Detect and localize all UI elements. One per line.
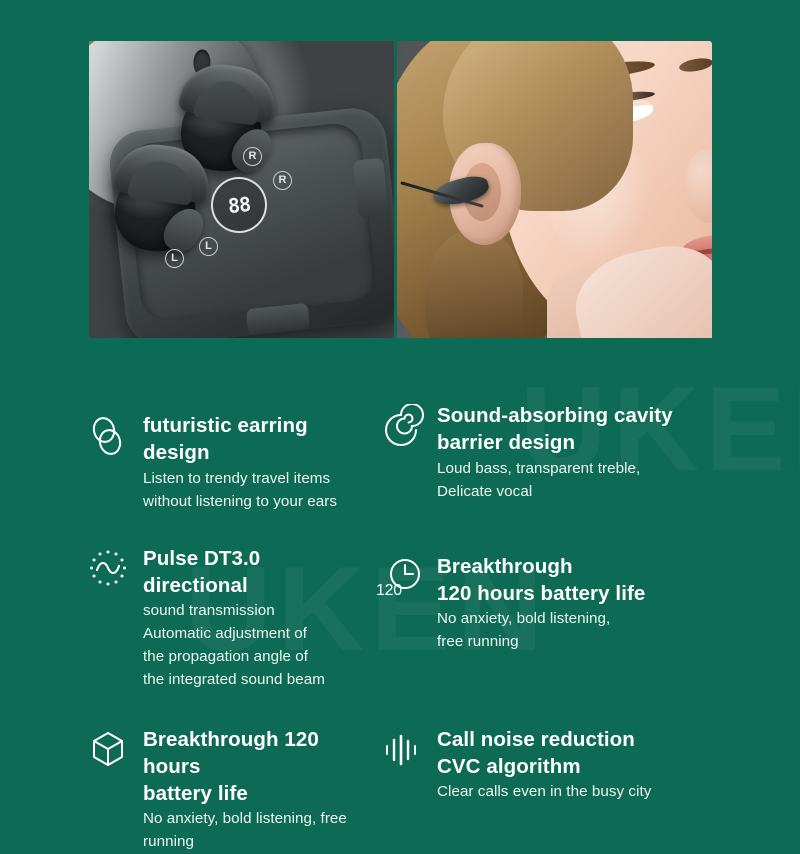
feature-subtitle-line: the propagation angle of [143, 645, 352, 668]
case-scene: R R L L 88 [89, 41, 394, 338]
feature-breakthrough-battery-life: Breakthrough 120 hours battery life No a… [86, 724, 352, 854]
photo-earbuds-in-charging-case: R R L L 88 [89, 41, 394, 338]
case-notch-secondary [246, 303, 310, 335]
feature-title: Breakthrough [437, 553, 645, 580]
battery-display-value: 88 [227, 192, 251, 218]
feature-pulse-dt30-directional: Pulse DT3.0 directional sound transmissi… [86, 543, 352, 692]
feature-subtitle-line: Automatic adjustment of [143, 622, 352, 645]
feature-subtitle-line: free running [437, 630, 645, 653]
feature-title-line2: battery life [143, 780, 352, 807]
feature-futuristic-earring-design: futuristic earring design Listen to tren… [86, 410, 352, 513]
photo-model-wearing-earbud [397, 41, 712, 338]
feature-breakthrough-120-hours: 120 Breakthrough 120 hours battery life … [380, 551, 732, 654]
feature-list: futuristic earring design Listen to tren… [0, 396, 800, 854]
feature-title: Breakthrough 120 hours [143, 726, 352, 781]
feature-title-line2: barrier design [437, 429, 673, 456]
feature-subtitle-line: sound transmission [143, 599, 352, 622]
feature-row-3: Breakthrough 120 hours battery life No a… [0, 724, 800, 854]
earbud-label-l: L [165, 249, 184, 268]
feature-subtitle-line: Loud bass, transparent treble, [437, 457, 673, 480]
feature-subtitle-line: No anxiety, bold listening, free running [143, 807, 352, 853]
earbud-label-l-2: L [199, 237, 218, 256]
feature-title-line2: CVC algorithm [437, 753, 651, 780]
model-ponytail [425, 231, 523, 338]
feature-subtitle-line: No anxiety, bold listening, [437, 607, 645, 630]
pulse-waveform-icon [86, 547, 132, 593]
feature-row-1: futuristic earring design Listen to tren… [0, 396, 800, 513]
feature-row-2: Pulse DT3.0 directional sound transmissi… [0, 543, 800, 692]
feature-sound-absorbing-cavity: Sound-absorbing cavity barrier design Lo… [380, 400, 732, 503]
feature-subtitle-line: without listening to your ears [143, 490, 352, 513]
feature-subtitle-line: the integrated sound beam [143, 668, 352, 691]
feature-subtitle-line: Listen to trendy travel items [143, 467, 352, 490]
feature-title: Call noise reduction [437, 726, 651, 753]
spiral-cavity-icon [380, 404, 426, 450]
earbud-label-r: R [243, 147, 262, 166]
feature-title-line2: 120 hours battery life [437, 580, 645, 607]
clock-icon-value: 120 [376, 582, 402, 600]
clock-120-icon: 120 [380, 555, 426, 601]
product-gallery: R R L L 88 [89, 41, 712, 338]
earbud-left [104, 139, 210, 259]
earring-loops-icon [86, 414, 132, 460]
case-notch [353, 158, 389, 219]
model-scene [397, 41, 712, 338]
earbud-label-r-2: R [273, 171, 292, 190]
hexagon-box-icon [86, 728, 132, 774]
feature-title: Pulse DT3.0 directional [143, 545, 352, 600]
feature-call-noise-reduction: Call noise reduction CVC algorithm Clear… [380, 724, 732, 804]
feature-subtitle-line: Delicate vocal [437, 480, 673, 503]
audio-bars-icon [380, 728, 426, 774]
feature-title: futuristic earring design [143, 412, 352, 467]
feature-title: Sound-absorbing cavity [437, 402, 673, 429]
